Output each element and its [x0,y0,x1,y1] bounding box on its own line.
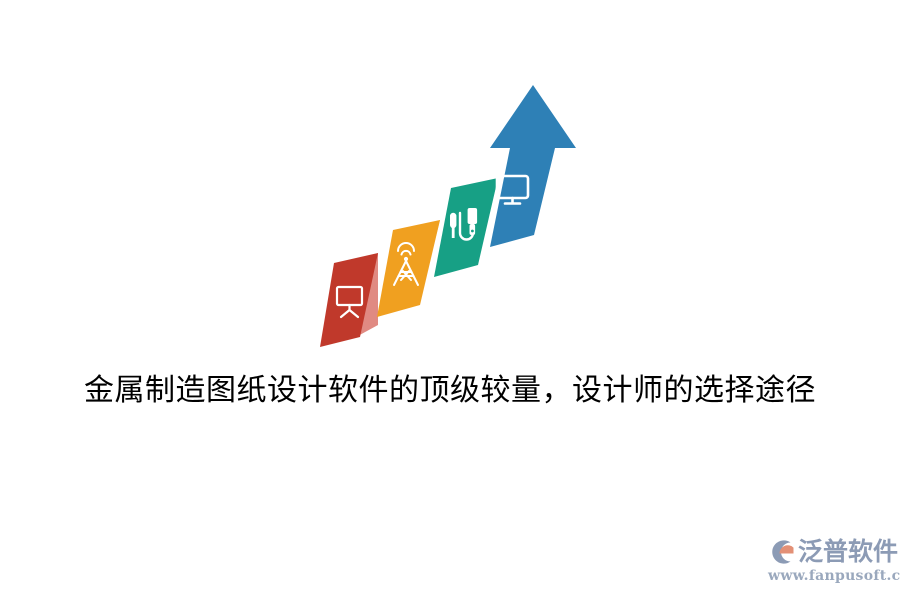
hero-arrow-graphic [320,75,580,355]
segment-3-body [434,178,498,277]
page-title: 金属制造图纸设计软件的顶级较量，设计师的选择途径 [0,371,900,411]
segment-2-body [377,220,440,317]
brand-url: www.fanpusoft.com [766,568,894,585]
page-root: 金属制造图纸设计软件的顶级较量，设计师的选择途径 泛普软件 www.fanpus… [0,0,900,600]
brand-logo-row: 泛普软件 [766,536,894,568]
brand-logo[interactable]: 泛普软件 www.fanpusoft.com [766,536,894,586]
brand-name: 泛普软件 [798,537,898,567]
fanpu-logo-mark [766,537,796,567]
segment-4-arrow [490,85,576,247]
